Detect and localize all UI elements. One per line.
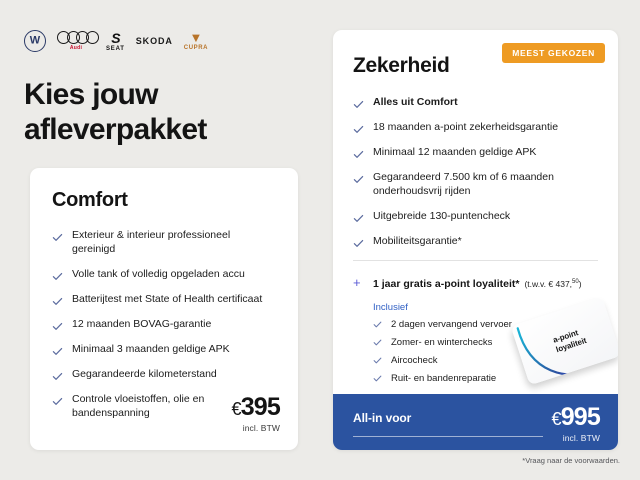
audi-rings-icon: [57, 31, 95, 44]
list-item: Uitgebreide 130-puntencheck: [353, 210, 598, 224]
cupra-logo: ▼ CUPRA: [184, 31, 208, 51]
comfort-price-amount: €395: [231, 395, 280, 420]
allin-price-footer: All-in voor €995 incl. BTW: [333, 394, 618, 450]
check-icon: [52, 271, 63, 282]
terms-note: *Vraag naar de voorwaarden.: [522, 456, 620, 465]
cupra-wordmark: CUPRA: [184, 45, 208, 51]
check-icon: [373, 356, 382, 365]
check-icon: [353, 124, 364, 135]
skoda-wordmark: SKODA: [136, 36, 173, 46]
list-item: Batterijtest met State of Health certifi…: [52, 293, 276, 307]
zekerheid-feature-list: Alles uit Comfort 18 maanden a-point zek…: [353, 96, 598, 249]
list-item-label: Minimaal 12 maanden geldige APK: [373, 146, 536, 160]
comfort-package-card: Comfort Exterieur & interieur profession…: [30, 168, 298, 450]
list-item: Minimaal 12 maanden geldige APK: [353, 146, 598, 160]
list-item-label: Gegarandeerd 7.500 km of 6 maanden onder…: [373, 171, 598, 199]
left-column: Audi S SEAT SKODA ▼ CUPRA Kies jouw afle…: [0, 0, 320, 480]
price-value: 995: [561, 403, 600, 431]
comfort-price-note: incl. BTW: [231, 423, 280, 433]
check-icon: [52, 232, 63, 243]
list-item: Alles uit Comfort: [353, 96, 598, 110]
seat-logo: S SEAT: [106, 31, 125, 52]
list-item: Gegarandeerde kilometerstand: [52, 368, 276, 382]
list-item: Gegarandeerd 7.500 km of 6 maanden onder…: [353, 171, 598, 199]
cupra-icon: ▼: [190, 31, 203, 44]
check-icon: [353, 238, 364, 249]
list-item-label: Zomer- en winterchecks: [391, 337, 492, 349]
check-icon: [353, 174, 364, 185]
seat-icon: S: [111, 31, 119, 45]
check-icon: [373, 320, 382, 329]
list-item-label: 2 dagen vervangend vervoer: [391, 319, 512, 331]
list-item-label: Volle tank of volledig opgeladen accu: [72, 268, 245, 282]
list-item-label: Aircocheck: [391, 355, 437, 367]
check-icon: [52, 371, 63, 382]
currency-symbol: €: [231, 399, 240, 419]
check-icon: [353, 213, 364, 224]
list-item-label: 18 maanden a-point zekerheidsgarantie: [373, 121, 558, 135]
list-item: Aircocheck: [373, 355, 618, 367]
page-title: Kies jouw afleverpakket: [24, 78, 304, 148]
comfort-price-block: €395 incl. BTW: [231, 395, 280, 433]
list-item-label: Mobiliteitsgarantie*: [373, 235, 462, 249]
check-icon: [353, 149, 364, 160]
list-item: 18 maanden a-point zekerheidsgarantie: [353, 121, 598, 135]
allin-label: All-in voor: [353, 411, 411, 425]
divider: [353, 260, 598, 261]
inclusief-list: 2 dagen vervangend vervoer Zomer- en win…: [373, 319, 618, 385]
audi-wordmark: Audi: [70, 45, 82, 51]
allin-underline: [353, 436, 543, 437]
list-item-label: Alles uit Comfort: [373, 96, 458, 110]
list-item: Exterieur & interieur professioneel gere…: [52, 229, 276, 257]
list-item-label: Exterieur & interieur professioneel gere…: [72, 229, 276, 257]
price-value: 395: [241, 393, 280, 421]
list-item: 2 dagen vervangend vervoer: [373, 319, 618, 331]
seat-wordmark: SEAT: [106, 46, 125, 52]
bonus-label: 1 jaar gratis a-point loyaliteit*: [373, 278, 519, 290]
check-icon: [52, 396, 63, 407]
check-icon: [52, 346, 63, 357]
skoda-logo: SKODA: [136, 36, 173, 46]
check-icon: [373, 338, 382, 347]
inclusief-block: Inclusief 2 dagen vervangend vervoer Zom…: [373, 302, 618, 385]
zekerheid-price-note: incl. BTW: [551, 433, 600, 443]
list-item-label: Gegarandeerde kilometerstand: [72, 368, 217, 382]
zekerheid-price-amount: €995: [551, 405, 600, 430]
bonus-value: (t.w.v. € 437,50): [524, 279, 581, 289]
list-item: Minimaal 3 maanden geldige APK: [52, 343, 276, 357]
volkswagen-icon: [24, 30, 46, 52]
bonus-value-suffix: ): [579, 279, 582, 289]
check-icon: [353, 99, 364, 110]
zekerheid-price-block: €995 incl. BTW: [551, 405, 600, 443]
check-icon: [52, 296, 63, 307]
list-item-label: Batterijtest met State of Health certifi…: [72, 293, 262, 307]
list-item-label: 12 maanden BOVAG-garantie: [72, 318, 211, 332]
list-item-label: Uitgebreide 130-puntencheck: [373, 210, 510, 224]
plus-icon: +: [353, 276, 364, 289]
bonus-value-prefix: (t.w.v. € 437,: [524, 279, 572, 289]
inclusief-label: Inclusief: [373, 302, 618, 313]
list-item: Zomer- en winterchecks: [373, 337, 618, 349]
list-item: 12 maanden BOVAG-garantie: [52, 318, 276, 332]
brand-logos: Audi S SEAT SKODA ▼ CUPRA: [24, 29, 208, 53]
status-badge: MEEST GEKOZEN: [502, 43, 605, 63]
check-icon: [373, 374, 382, 383]
currency-symbol: €: [551, 409, 560, 429]
bonus-row: + 1 jaar gratis a-point loyaliteit*(t.w.…: [353, 274, 603, 292]
bonus-value-cents: 50: [572, 279, 579, 285]
bonus-text-wrap: 1 jaar gratis a-point loyaliteit*(t.w.v.…: [373, 274, 582, 292]
list-item: Mobiliteitsgarantie*: [353, 235, 598, 249]
volkswagen-logo: [24, 30, 46, 52]
list-item: Volle tank of volledig opgeladen accu: [52, 268, 276, 282]
zekerheid-package-card: MEEST GEKOZEN Zekerheid Alles uit Comfor…: [333, 30, 618, 450]
list-item: Ruit- en bandenreparatie: [373, 373, 618, 385]
list-item-label: Ruit- en bandenreparatie: [391, 373, 496, 385]
list-item-label: Minimaal 3 maanden geldige APK: [72, 343, 230, 357]
check-icon: [52, 321, 63, 332]
comfort-title: Comfort: [52, 189, 298, 212]
audi-logo: Audi: [57, 31, 95, 51]
